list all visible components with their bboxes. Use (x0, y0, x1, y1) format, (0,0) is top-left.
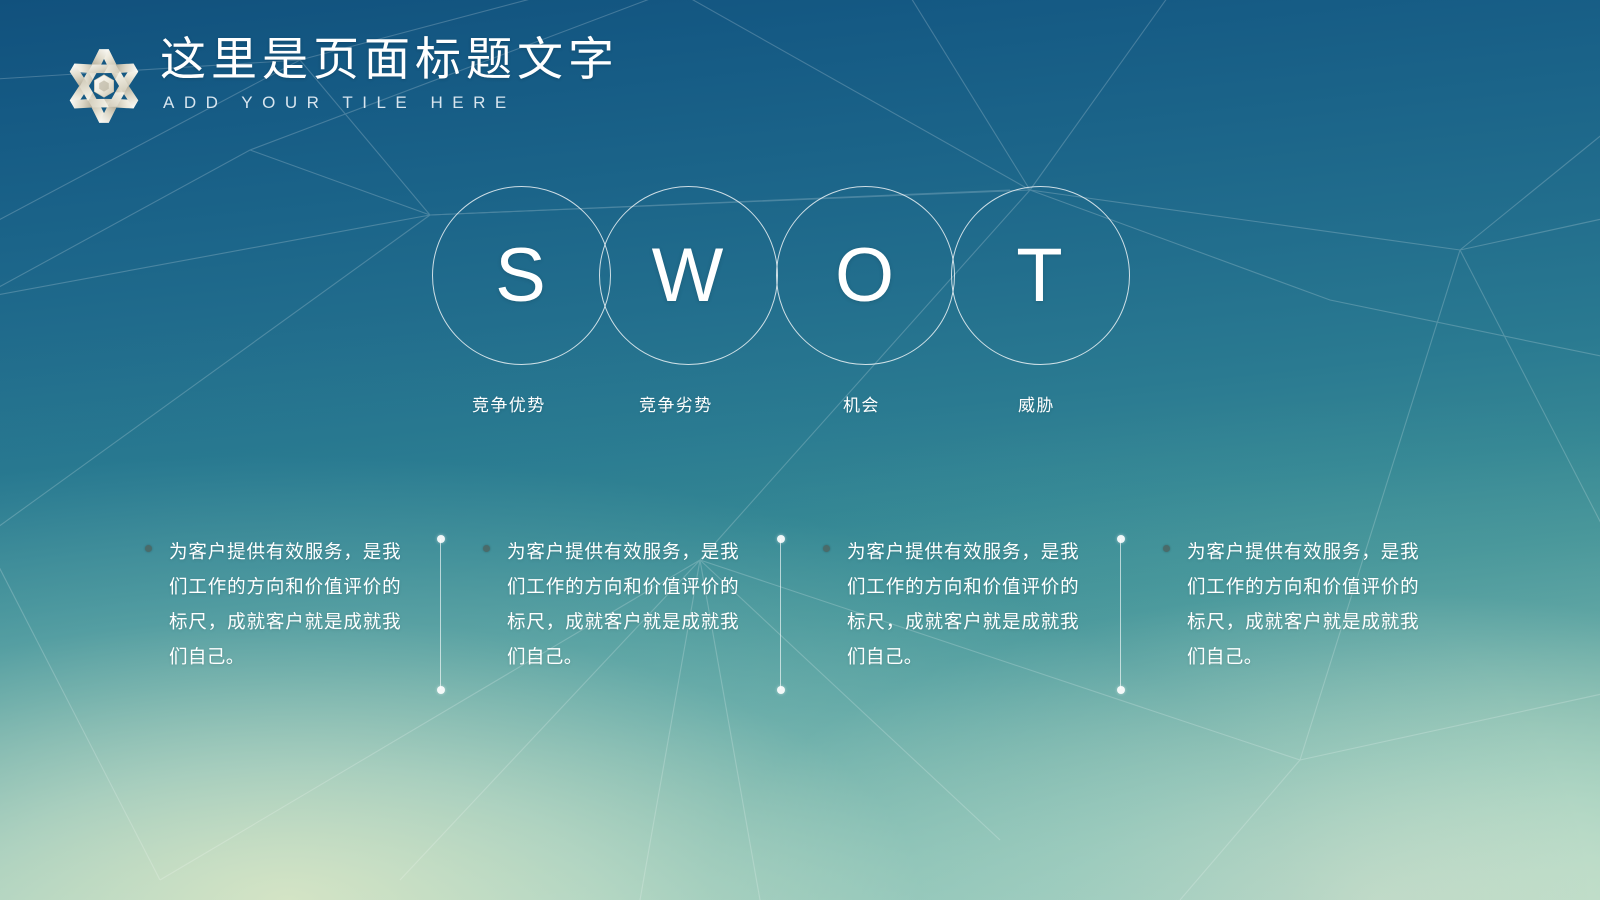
divider-line (1120, 539, 1121, 689)
swot-label-t: 威胁 (1018, 391, 1055, 416)
description-column: 为客户提供有效服务，是我们工作的方向和价值评价的标尺，成就客户就是成就我们自己。 (823, 534, 1079, 674)
column-divider (776, 534, 785, 694)
description-column: 为客户提供有效服务，是我们工作的方向和价值评价的标尺，成就客户就是成就我们自己。 (145, 534, 401, 674)
swot-label-group: 竞争优势竞争劣势机会威胁 (0, 391, 1600, 417)
swot-circle-t[interactable]: T (951, 186, 1130, 365)
page-title: 这里是页面标题文字 (160, 36, 619, 84)
column-divider (436, 534, 445, 694)
swot-letter: O (835, 238, 895, 314)
page-header: 这里是页面标题文字 ADD YOUR TILE HERE (64, 36, 619, 132)
swot-label-w: 竞争劣势 (639, 391, 713, 416)
divider-end-dot-icon (1117, 686, 1125, 694)
swot-letter: T (1016, 238, 1063, 314)
description-column: 为客户提供有效服务，是我们工作的方向和价值评价的标尺，成就客户就是成就我们自己。 (1163, 534, 1419, 674)
description-text: 为客户提供有效服务，是我们工作的方向和价值评价的标尺，成就客户就是成就我们自己。 (1187, 534, 1419, 674)
hexagon-snowflake-logo-icon (64, 40, 144, 132)
swot-circle-s[interactable]: S (432, 186, 611, 365)
description-text: 为客户提供有效服务，是我们工作的方向和价值评价的标尺，成就客户就是成就我们自己。 (507, 534, 739, 674)
bullet-dot-icon (145, 545, 152, 552)
divider-end-dot-icon (777, 686, 785, 694)
description-text: 为客户提供有效服务，是我们工作的方向和价值评价的标尺，成就客户就是成就我们自己。 (169, 534, 401, 674)
bullet-dot-icon (823, 545, 830, 552)
divider-line (440, 539, 441, 689)
description-text: 为客户提供有效服务，是我们工作的方向和价值评价的标尺，成就客户就是成就我们自己。 (847, 534, 1079, 674)
swot-letter: W (652, 238, 725, 314)
divider-line (780, 539, 781, 689)
page-subtitle: ADD YOUR TILE HERE (163, 93, 619, 113)
description-column: 为客户提供有效服务，是我们工作的方向和价值评价的标尺，成就客户就是成就我们自己。 (483, 534, 739, 674)
bullet-dot-icon (1163, 545, 1170, 552)
swot-label-o: 机会 (843, 391, 880, 416)
column-divider (1116, 534, 1125, 694)
swot-circle-group: SWOT (0, 186, 1600, 382)
slide-canvas: 这里是页面标题文字 ADD YOUR TILE HERE SWOT 竞争优势竞争… (0, 0, 1600, 900)
swot-letter: S (495, 238, 547, 314)
swot-label-s: 竞争优势 (472, 391, 546, 416)
divider-end-dot-icon (437, 686, 445, 694)
bullet-dot-icon (483, 545, 490, 552)
header-text-block: 这里是页面标题文字 ADD YOUR TILE HERE (160, 36, 619, 113)
swot-circle-o[interactable]: O (776, 186, 955, 365)
swot-description-columns: 为客户提供有效服务，是我们工作的方向和价值评价的标尺，成就客户就是成就我们自己。… (0, 534, 1600, 714)
swot-circle-w[interactable]: W (599, 186, 778, 365)
polygon-network-background (0, 0, 1600, 900)
